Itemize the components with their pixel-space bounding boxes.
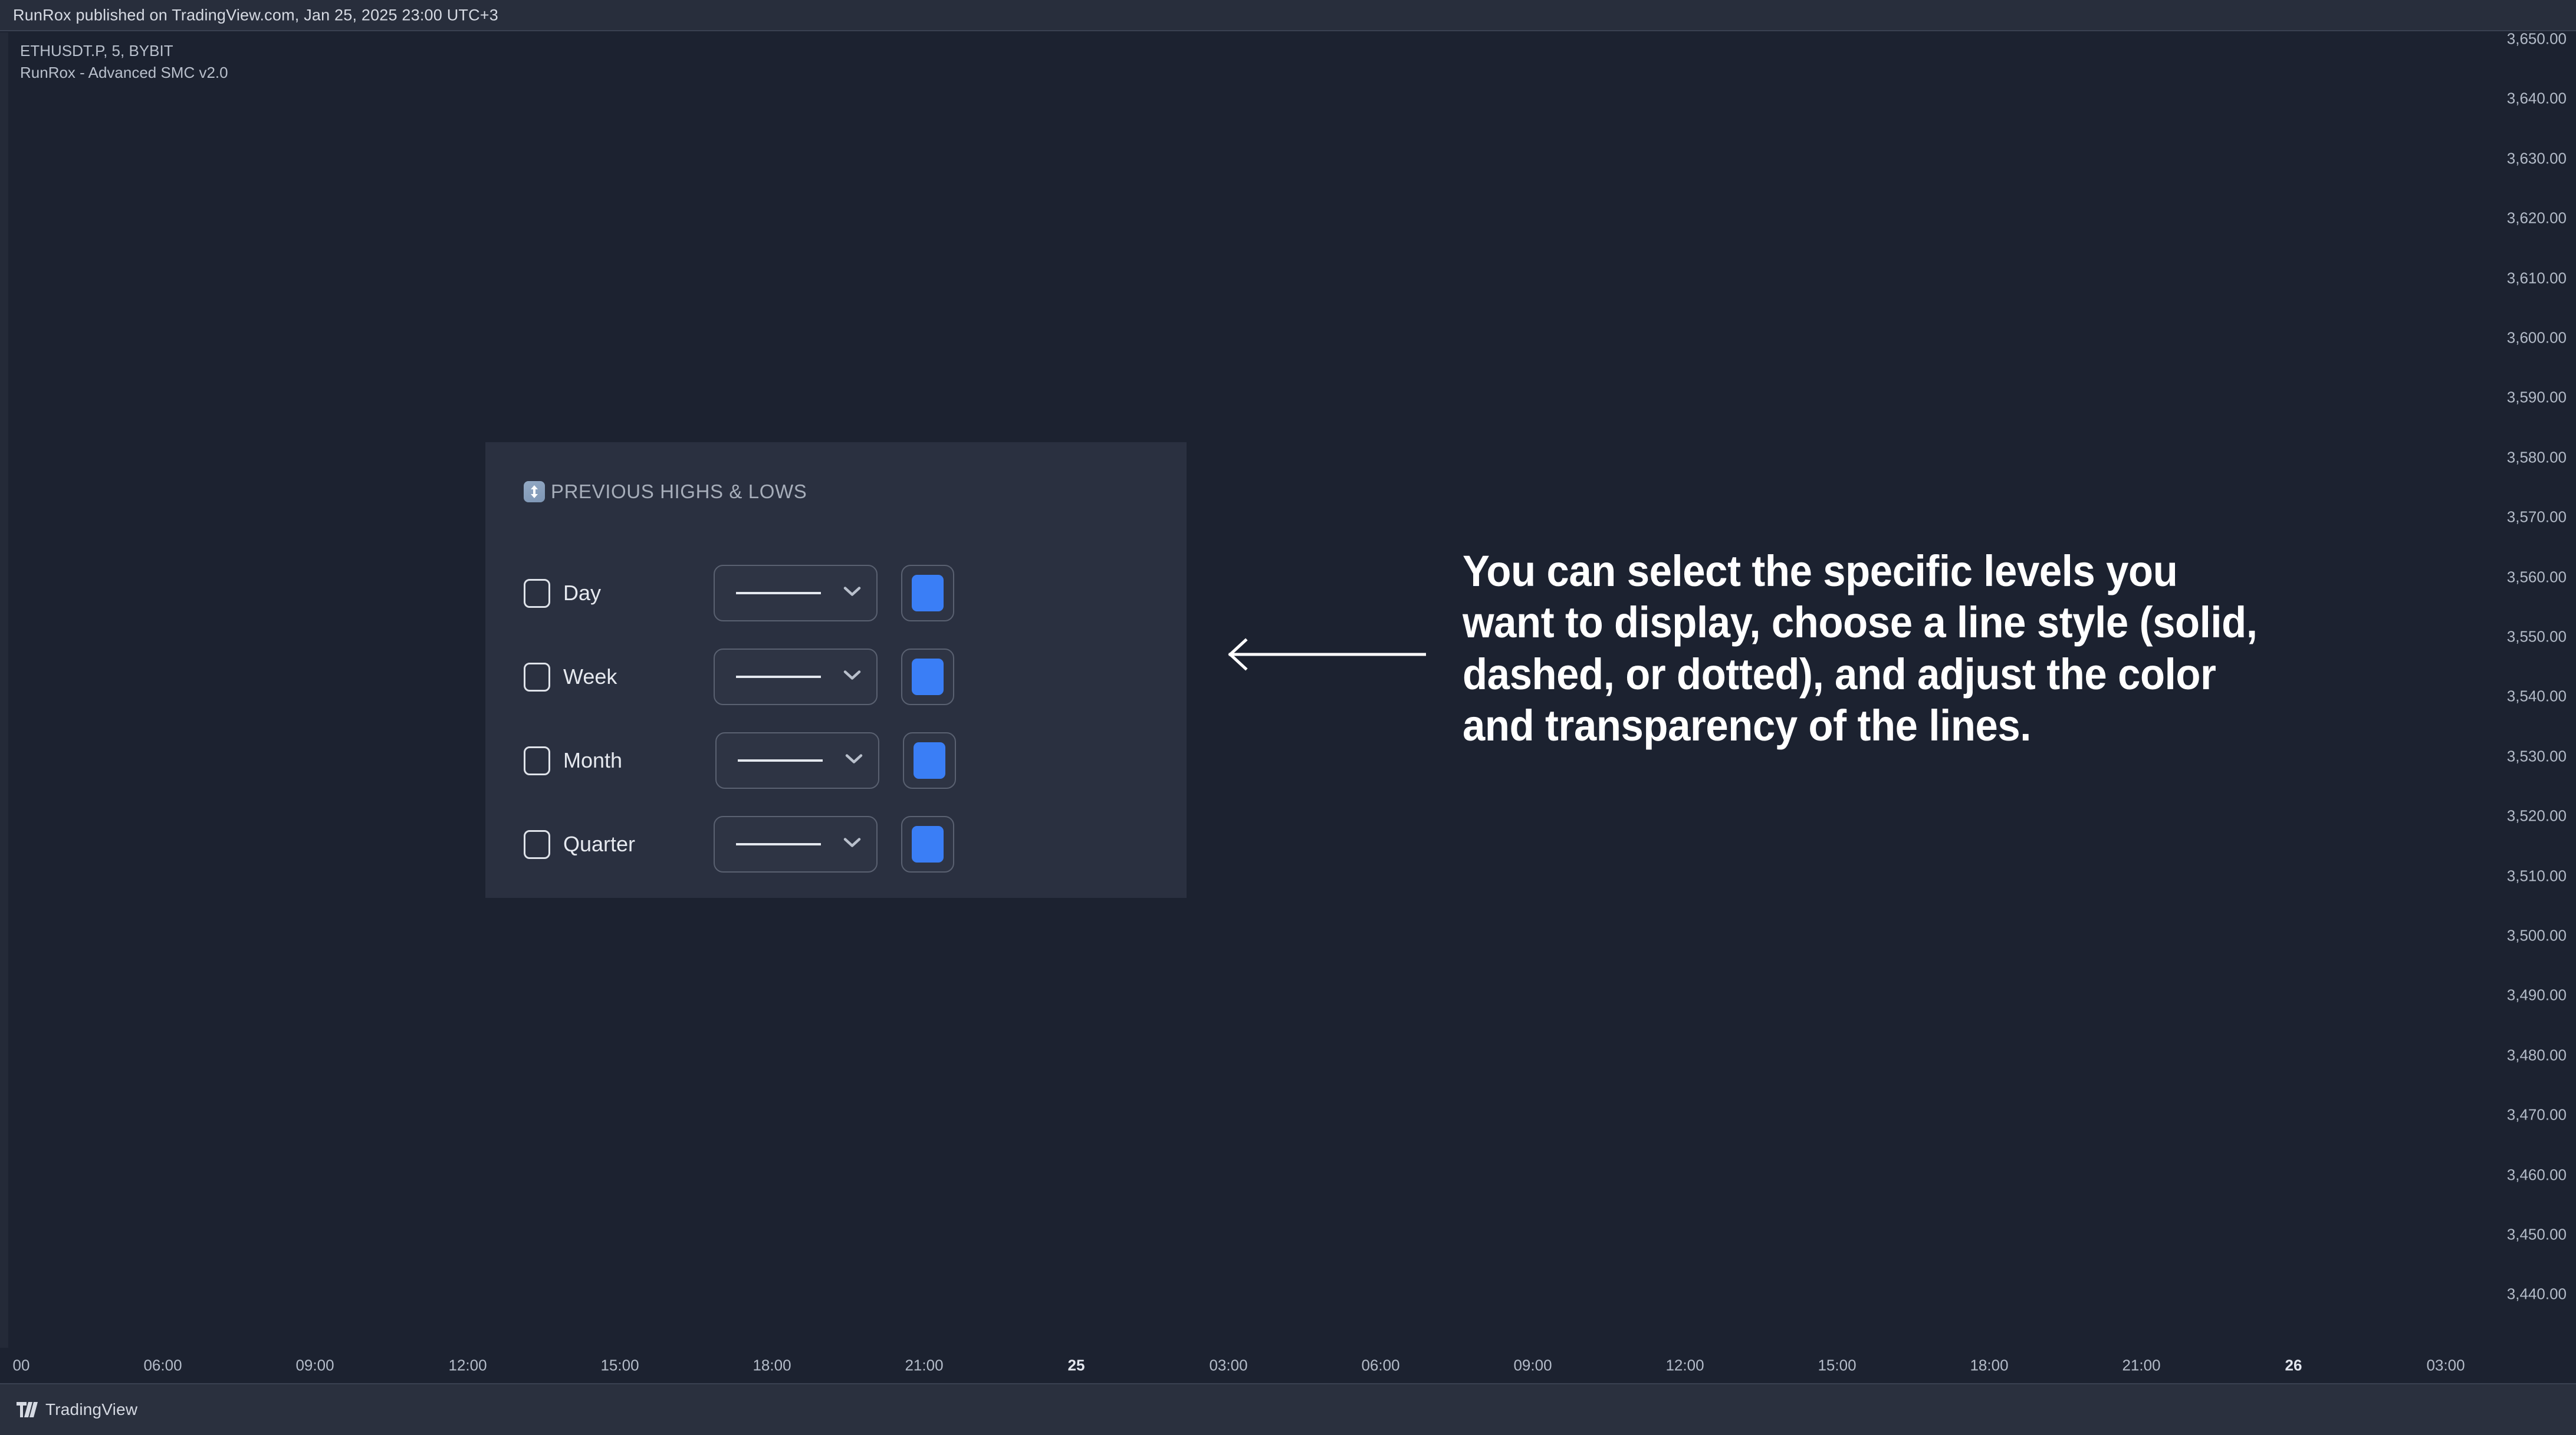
chevron-down-icon <box>843 587 861 600</box>
price-tick: 3,470.00 <box>2507 1106 2567 1124</box>
option-row: Week <box>524 649 954 705</box>
price-tick: 3,450.00 <box>2507 1226 2567 1244</box>
time-tick: 06:00 <box>143 1357 182 1375</box>
price-tick: 3,650.00 <box>2507 30 2567 48</box>
price-tick: 3,640.00 <box>2507 90 2567 108</box>
up-down-arrow-icon <box>524 481 545 502</box>
color-picker-quarter[interactable] <box>901 816 954 873</box>
chart-legend: ETHUSDT.P, 5, BYBIT RunRox - Advanced SM… <box>20 40 228 84</box>
option-label: Month <box>563 748 622 773</box>
option-row: Quarter <box>524 816 954 873</box>
annotation-description: You can select the specific levels you w… <box>1463 545 2263 751</box>
time-tick: 03:00 <box>2426 1357 2465 1375</box>
time-tick: 09:00 <box>1513 1357 1552 1375</box>
checkbox-week[interactable] <box>524 663 550 692</box>
time-tick: 18:00 <box>1970 1357 2008 1375</box>
line-style-select-week[interactable] <box>714 649 878 705</box>
chart-left-rail <box>0 32 8 1348</box>
price-tick: 3,620.00 <box>2507 209 2567 228</box>
color-swatch <box>914 742 945 779</box>
option-label: Day <box>563 581 601 605</box>
option-row: Month <box>524 732 956 789</box>
option-label: Week <box>563 664 617 689</box>
price-tick: 3,490.00 <box>2507 986 2567 1005</box>
checkbox-quarter[interactable] <box>524 830 550 859</box>
checkbox-day[interactable] <box>524 579 550 608</box>
price-tick: 3,510.00 <box>2507 867 2567 885</box>
time-tick: 00 <box>13 1357 30 1375</box>
line-style-preview <box>736 843 821 845</box>
time-tick: 12:00 <box>448 1357 487 1375</box>
time-tick: 21:00 <box>905 1357 943 1375</box>
option-row: Day <box>524 565 954 621</box>
publish-info-text: RunRox published on TradingView.com, Jan… <box>13 6 498 24</box>
color-picker-month[interactable] <box>903 732 956 789</box>
chevron-down-icon <box>845 754 863 768</box>
price-scale[interactable]: 3,650.003,640.003,630.003,620.003,610.00… <box>2498 32 2576 1348</box>
price-tick: 3,570.00 <box>2507 508 2567 526</box>
price-tick: 3,530.00 <box>2507 747 2567 765</box>
chevron-down-icon <box>843 670 861 684</box>
panel-section-title: PREVIOUS HIGHS & LOWS <box>551 480 807 503</box>
price-tick: 3,630.00 <box>2507 149 2567 167</box>
left-arrow-icon <box>1225 637 1426 672</box>
line-style-select-quarter[interactable] <box>714 816 878 873</box>
price-tick: 3,500.00 <box>2507 927 2567 945</box>
time-tick: 18:00 <box>753 1357 791 1375</box>
price-tick: 3,440.00 <box>2507 1285 2567 1304</box>
color-picker-day[interactable] <box>901 565 954 621</box>
legend-indicator[interactable]: RunRox - Advanced SMC v2.0 <box>20 62 228 84</box>
time-tick: 15:00 <box>600 1357 639 1375</box>
price-tick: 3,600.00 <box>2507 329 2567 347</box>
price-tick: 3,580.00 <box>2507 448 2567 466</box>
time-tick: 03:00 <box>1209 1357 1247 1375</box>
price-tick: 3,460.00 <box>2507 1166 2567 1184</box>
checkbox-month[interactable] <box>524 746 550 775</box>
price-tick: 3,540.00 <box>2507 687 2567 706</box>
time-scale[interactable]: 0006:0009:0012:0015:0018:0021:002503:000… <box>0 1348 2576 1384</box>
price-tick: 3,610.00 <box>2507 269 2567 287</box>
publish-bar: RunRox published on TradingView.com, Jan… <box>0 0 2576 31</box>
time-tick: 09:00 <box>295 1357 334 1375</box>
line-style-preview <box>736 676 821 678</box>
time-tick: 12:00 <box>1665 1357 1704 1375</box>
bottom-bar: TradingView <box>0 1384 2576 1435</box>
tradingview-logo-icon <box>17 1402 39 1417</box>
chevron-down-icon <box>843 838 861 851</box>
color-picker-week[interactable] <box>901 649 954 705</box>
tradingview-logo-text: TradingView <box>45 1400 137 1419</box>
previous-highs-lows-settings-panel[interactable]: PREVIOUS HIGHS & LOWS DayWeekMonthQuarte… <box>485 442 1187 898</box>
option-label: Quarter <box>563 832 635 857</box>
price-tick: 3,520.00 <box>2507 807 2567 825</box>
line-style-preview <box>738 759 823 762</box>
price-tick: 3,480.00 <box>2507 1046 2567 1064</box>
line-style-preview <box>736 592 821 594</box>
time-tick: 25 <box>1068 1357 1085 1375</box>
price-tick: 3,550.00 <box>2507 628 2567 646</box>
price-tick: 3,590.00 <box>2507 389 2567 407</box>
legend-symbol[interactable]: ETHUSDT.P, 5, BYBIT <box>20 40 228 62</box>
time-tick: 15:00 <box>1818 1357 1856 1375</box>
line-style-select-day[interactable] <box>714 565 878 621</box>
time-tick: 21:00 <box>2122 1357 2160 1375</box>
price-tick: 3,560.00 <box>2507 568 2567 586</box>
color-swatch <box>912 575 944 611</box>
panel-section-header: PREVIOUS HIGHS & LOWS <box>524 480 807 503</box>
time-tick: 26 <box>2285 1357 2302 1375</box>
color-swatch <box>912 826 944 863</box>
time-tick: 06:00 <box>1361 1357 1399 1375</box>
line-style-select-month[interactable] <box>715 732 879 789</box>
tradingview-logo[interactable]: TradingView <box>17 1400 137 1419</box>
color-swatch <box>912 659 944 695</box>
